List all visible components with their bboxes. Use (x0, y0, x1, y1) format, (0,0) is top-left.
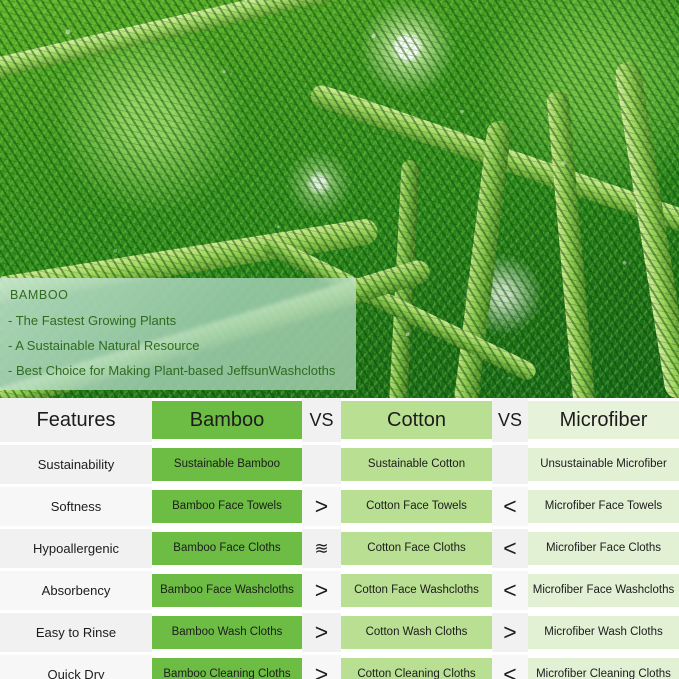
header-cell-bamboo: Bamboo (152, 398, 302, 442)
row-operator-bamboo-cotton: > (302, 613, 341, 652)
row-value-microfiber: Microfiber Face Washcloths (528, 574, 679, 607)
row-cell-microfiber: Microfiber Cleaning Cloths (528, 655, 679, 679)
row-feature-label: Sustainability (0, 445, 152, 484)
row-value-cotton: Cotton Face Washcloths (341, 574, 492, 607)
row-cell-microfiber: Microfiber Face Cloths (528, 529, 679, 568)
row-operator-bamboo-cotton: > (302, 571, 341, 610)
table-row: Sustainability Sustainable Bamboo Sustai… (0, 445, 679, 484)
row-value-cotton: Cotton Face Towels (341, 490, 492, 523)
row-cell-cotton: Cotton Face Towels (341, 487, 492, 526)
row-operator-cotton-microfiber: > (492, 613, 528, 652)
overlay-bullet-3: - Best Choice for Making Plant-based Jef… (8, 364, 356, 377)
row-feature-label: Quick Dry (0, 655, 152, 679)
table-row: Hypoallergenic Bamboo Face Cloths ≋ Cott… (0, 529, 679, 568)
table-row: Easy to Rinse Bamboo Wash Cloths > Cotto… (0, 613, 679, 652)
less-than-icon: < (503, 579, 516, 602)
row-value-microfiber: Unsustainable Microfiber (528, 448, 679, 481)
product-comparison-infographic: BAMBOO - The Fastest Growing Plants - A … (0, 0, 679, 679)
row-operator-cotton-microfiber: < (492, 529, 528, 568)
overlay-bullet-2: - A Sustainable Natural Resource (8, 339, 356, 352)
row-cell-cotton: Cotton Face Cloths (341, 529, 492, 568)
header-vs-cotton-microfiber: VS (492, 398, 528, 442)
row-cell-bamboo: Bamboo Face Towels (152, 487, 302, 526)
row-value-bamboo: Bamboo Face Washcloths (152, 574, 302, 607)
row-cell-bamboo: Bamboo Cleaning Cloths (152, 655, 302, 679)
row-value-cotton: Cotton Wash Cloths (341, 616, 492, 649)
row-value-cotton: Cotton Cleaning Cloths (341, 658, 492, 679)
row-cell-bamboo: Bamboo Face Washcloths (152, 571, 302, 610)
bamboo-forest-photo: BAMBOO - The Fastest Growing Plants - A … (0, 0, 679, 398)
row-value-microfiber: Microfiber Wash Cloths (528, 616, 679, 649)
header-label-microfiber: Microfiber (528, 401, 679, 439)
row-cell-microfiber: Microfiber Face Towels (528, 487, 679, 526)
row-feature-label: Hypoallergenic (0, 529, 152, 568)
row-value-bamboo: Bamboo Face Cloths (152, 532, 302, 565)
row-value-bamboo: Bamboo Wash Cloths (152, 616, 302, 649)
greater-than-icon: > (315, 663, 328, 679)
greater-than-icon: > (315, 579, 328, 602)
greater-than-icon: > (315, 621, 328, 644)
row-operator-bamboo-cotton (302, 445, 341, 484)
row-operator-bamboo-cotton: > (302, 487, 341, 526)
row-operator-bamboo-cotton: ≋ (302, 529, 341, 568)
row-value-microfiber: Microfiber Cleaning Cloths (528, 658, 679, 679)
row-value-microfiber: Microfiber Face Cloths (528, 532, 679, 565)
table-row: Absorbency Bamboo Face Washcloths > Cott… (0, 571, 679, 610)
row-operator-cotton-microfiber: < (492, 655, 528, 679)
less-than-icon: < (503, 663, 516, 679)
row-feature-label: Softness (0, 487, 152, 526)
less-than-icon: < (503, 537, 516, 560)
greater-than-icon: > (503, 621, 516, 644)
table-header-row: Features Bamboo VS Cotton VS Microfiber (0, 398, 679, 442)
row-operator-cotton-microfiber: < (492, 571, 528, 610)
row-cell-microfiber: Microfiber Face Washcloths (528, 571, 679, 610)
row-cell-microfiber: Unsustainable Microfiber (528, 445, 679, 484)
overlay-bullet-1: - The Fastest Growing Plants (8, 314, 356, 327)
overlay-title: BAMBOO (10, 289, 356, 302)
row-value-cotton: Sustainable Cotton (341, 448, 492, 481)
row-cell-bamboo: Bamboo Wash Cloths (152, 613, 302, 652)
approximately-equal-icon: ≋ (314, 540, 328, 557)
row-feature-label: Easy to Rinse (0, 613, 152, 652)
row-cell-cotton: Cotton Face Washcloths (341, 571, 492, 610)
row-value-bamboo: Bamboo Face Towels (152, 490, 302, 523)
row-cell-microfiber: Microfiber Wash Cloths (528, 613, 679, 652)
row-value-microfiber: Microfiber Face Towels (528, 490, 679, 523)
header-cell-features: Features (0, 398, 152, 442)
table-row: Quick Dry Bamboo Cleaning Cloths > Cotto… (0, 655, 679, 679)
row-value-bamboo: Sustainable Bamboo (152, 448, 302, 481)
header-label-cotton: Cotton (341, 401, 492, 439)
comparison-table: Features Bamboo VS Cotton VS Microfiber … (0, 398, 679, 679)
row-operator-cotton-microfiber (492, 445, 528, 484)
row-value-cotton: Cotton Face Cloths (341, 532, 492, 565)
header-vs-bamboo-cotton: VS (302, 398, 341, 442)
row-cell-bamboo: Bamboo Face Cloths (152, 529, 302, 568)
greater-than-icon: > (315, 495, 328, 518)
row-cell-cotton: Sustainable Cotton (341, 445, 492, 484)
less-than-icon: < (503, 495, 516, 518)
row-feature-label: Absorbency (0, 571, 152, 610)
header-cell-microfiber: Microfiber (528, 398, 679, 442)
row-cell-bamboo: Sustainable Bamboo (152, 445, 302, 484)
table-row: Softness Bamboo Face Towels > Cotton Fac… (0, 487, 679, 526)
header-label-bamboo: Bamboo (152, 401, 302, 439)
header-cell-cotton: Cotton (341, 398, 492, 442)
row-operator-cotton-microfiber: < (492, 487, 528, 526)
row-value-bamboo: Bamboo Cleaning Cloths (152, 658, 302, 679)
bamboo-info-overlay: BAMBOO - The Fastest Growing Plants - A … (0, 278, 356, 390)
row-operator-bamboo-cotton: > (302, 655, 341, 679)
row-cell-cotton: Cotton Wash Cloths (341, 613, 492, 652)
row-cell-cotton: Cotton Cleaning Cloths (341, 655, 492, 679)
